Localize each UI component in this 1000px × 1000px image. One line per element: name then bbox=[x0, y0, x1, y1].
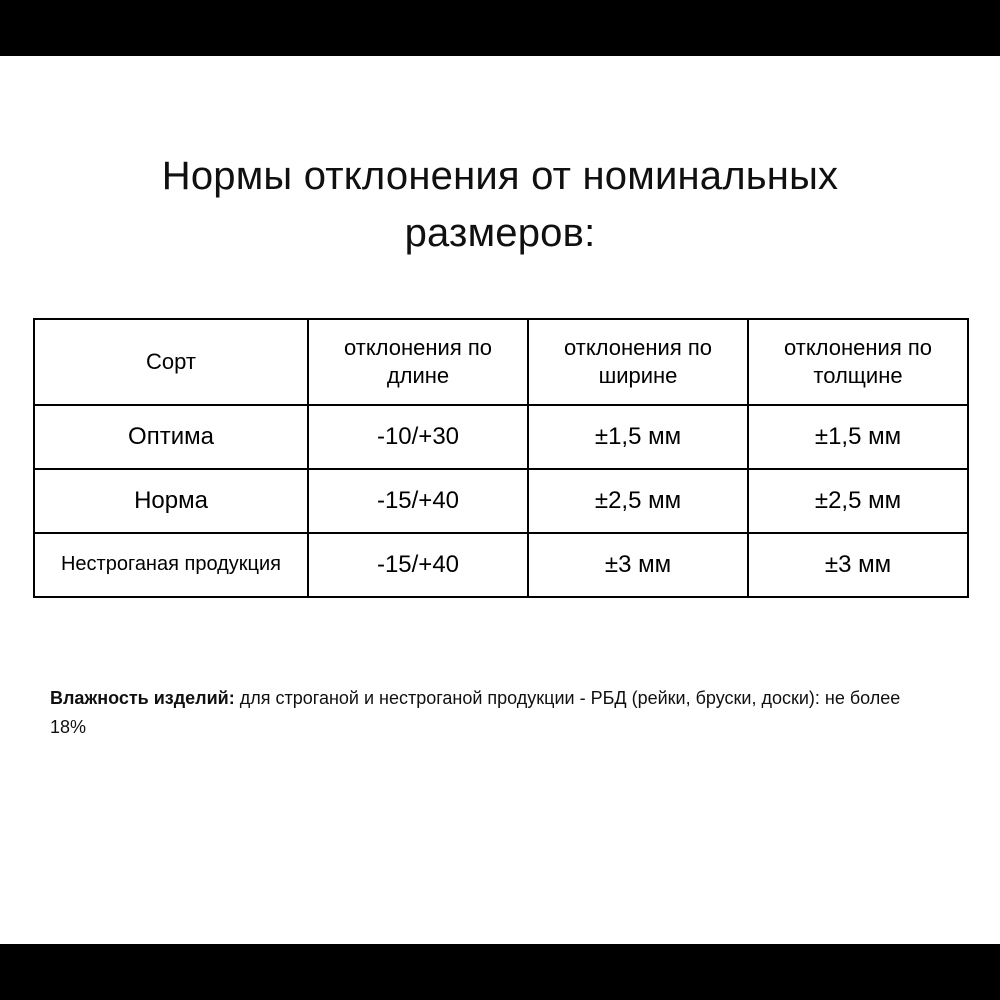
table-header-row: Сорт отклонения по длине отклонения по ш… bbox=[34, 319, 968, 405]
cell-length: -15/+40 bbox=[308, 469, 528, 533]
table-header: Сорт отклонения по длине отклонения по ш… bbox=[34, 319, 968, 405]
cell-length: -10/+30 bbox=[308, 405, 528, 469]
column-header-width: отклонения по ширине bbox=[528, 319, 748, 405]
table-row: Оптима -10/+30 ±1,5 мм ±1,5 мм bbox=[34, 405, 968, 469]
table-row: Нестроганая продукция -15/+40 ±3 мм ±3 м… bbox=[34, 533, 968, 597]
cell-thickness: ±3 мм bbox=[748, 533, 968, 597]
table-row: Норма -15/+40 ±2,5 мм ±2,5 мм bbox=[34, 469, 968, 533]
cell-thickness: ±2,5 мм bbox=[748, 469, 968, 533]
cell-width: ±2,5 мм bbox=[528, 469, 748, 533]
moisture-note: Влажность изделий: для строганой и нестр… bbox=[0, 684, 1000, 742]
column-header-thickness: отклонения по толщине bbox=[748, 319, 968, 405]
column-header-length: отклонения по длине bbox=[308, 319, 528, 405]
cell-grade: Оптима bbox=[34, 405, 308, 469]
deviation-table-wrapper: Сорт отклонения по длине отклонения по ш… bbox=[33, 318, 967, 598]
deviation-table: Сорт отклонения по длине отклонения по ш… bbox=[33, 318, 969, 598]
cell-length: -15/+40 bbox=[308, 533, 528, 597]
cell-grade: Нестроганая продукция bbox=[34, 533, 308, 597]
table-body: Оптима -10/+30 ±1,5 мм ±1,5 мм Норма -15… bbox=[34, 405, 968, 597]
column-header-grade: Сорт bbox=[34, 319, 308, 405]
document-page: Нормы отклонения от номинальных размеров… bbox=[0, 56, 1000, 944]
cell-grade: Норма bbox=[34, 469, 308, 533]
page-title: Нормы отклонения от номинальных размеров… bbox=[0, 56, 1000, 262]
cell-thickness: ±1,5 мм bbox=[748, 405, 968, 469]
cell-width: ±3 мм bbox=[528, 533, 748, 597]
cell-width: ±1,5 мм bbox=[528, 405, 748, 469]
moisture-note-label: Влажность изделий: bbox=[50, 688, 235, 708]
